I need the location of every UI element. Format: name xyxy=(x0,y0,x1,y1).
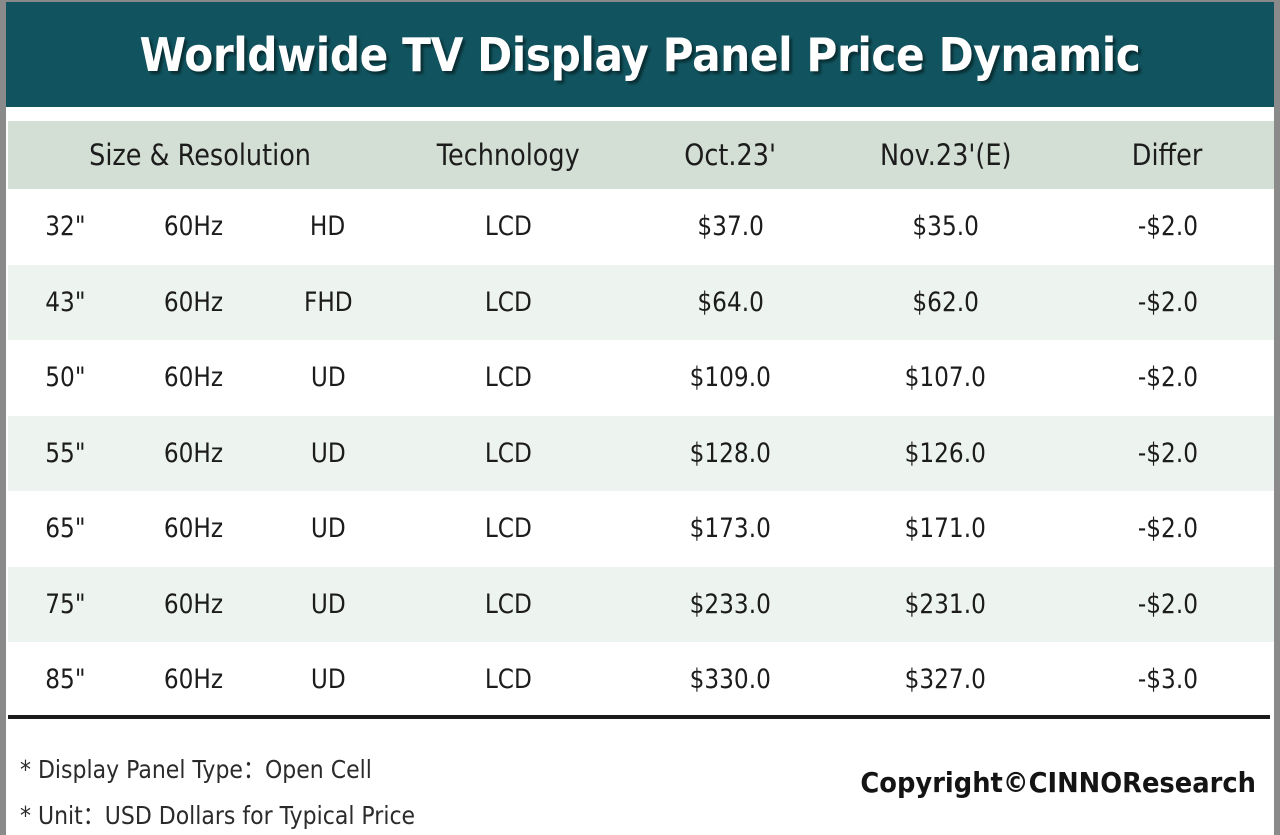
column-header-nov23e: Nov.23'(E) xyxy=(838,121,1053,189)
cell-differ: -$2.0 xyxy=(1053,416,1280,492)
cell-technology-label: LCD xyxy=(485,362,532,393)
cell-refresh: 60Hz xyxy=(123,642,263,718)
column-header-size-resolution: Size & Resolution xyxy=(8,121,393,189)
cell-refresh: 60Hz xyxy=(123,189,263,265)
column-header-oct23-label: Oct.23' xyxy=(685,138,777,172)
cell-nov23e-label: $126.0 xyxy=(905,438,986,469)
cell-nov23e: $62.0 xyxy=(838,265,1053,341)
table-header: Size & Resolution Technology Oct.23' Nov… xyxy=(8,121,1280,189)
footnotes: * Display Panel Type：Open Cell * Unit：US… xyxy=(20,747,469,835)
cell-technology: LCD xyxy=(393,265,623,341)
cell-refresh-label: 60Hz xyxy=(163,664,222,695)
cell-nov23e-label: $62.0 xyxy=(912,287,978,318)
footnote-panel-type-label: * Display Panel Type：Open Cell xyxy=(20,747,372,793)
cell-differ: -$3.0 xyxy=(1053,642,1280,718)
cell-resolution: UD xyxy=(263,567,393,643)
cell-oct23: $173.0 xyxy=(623,491,838,567)
cell-differ: -$2.0 xyxy=(1053,340,1280,416)
cell-nov23e: $126.0 xyxy=(838,416,1053,492)
cell-differ-label: -$2.0 xyxy=(1137,438,1197,469)
footer: * Display Panel Type：Open Cell * Unit：US… xyxy=(8,715,1270,835)
cell-technology-label: LCD xyxy=(485,513,532,544)
cell-refresh: 60Hz xyxy=(123,416,263,492)
cell-nov23e-label: $35.0 xyxy=(912,211,978,242)
cell-oct23-label: $64.0 xyxy=(697,287,763,318)
cell-technology: LCD xyxy=(393,491,623,567)
cell-oct23-label: $233.0 xyxy=(690,589,771,620)
cell-resolution: HD xyxy=(263,189,393,265)
cell-technology-label: LCD xyxy=(485,287,532,318)
cell-differ-label: -$2.0 xyxy=(1137,589,1197,620)
copyright-notice: Copyright©CINNOResearch xyxy=(826,766,1256,799)
cell-resolution-label: UD xyxy=(311,664,346,695)
cell-oct23-label: $109.0 xyxy=(690,362,771,393)
cell-differ: -$2.0 xyxy=(1053,265,1280,341)
cell-size: 55" xyxy=(8,416,123,492)
cell-size-label: 75" xyxy=(45,589,85,620)
table-row: 50" 60Hz UD LCD $109.0 $107.0 -$2.0 xyxy=(8,340,1280,416)
table-row: 65" 60Hz UD LCD $173.0 $171.0 -$2.0 xyxy=(8,491,1280,567)
price-table-infographic: Worldwide TV Display Panel Price Dynamic… xyxy=(0,0,1280,835)
cell-refresh-label: 60Hz xyxy=(163,438,222,469)
cell-oct23-label: $173.0 xyxy=(690,513,771,544)
table-header-row: Size & Resolution Technology Oct.23' Nov… xyxy=(8,121,1280,189)
table-row: 43" 60Hz FHD LCD $64.0 $62.0 -$2.0 xyxy=(8,265,1280,341)
cell-oct23-label: $128.0 xyxy=(690,438,771,469)
table-row: 32" 60Hz HD LCD $37.0 $35.0 -$2.0 xyxy=(8,189,1280,265)
cell-technology: LCD xyxy=(393,642,623,718)
cell-resolution: UD xyxy=(263,491,393,567)
cell-differ: -$2.0 xyxy=(1053,491,1280,567)
cell-technology: LCD xyxy=(393,340,623,416)
cell-technology: LCD xyxy=(393,567,623,643)
cell-oct23: $109.0 xyxy=(623,340,838,416)
cell-nov23e-label: $107.0 xyxy=(905,362,986,393)
cell-refresh-label: 60Hz xyxy=(163,589,222,620)
cell-resolution-label: HD xyxy=(310,211,345,242)
cell-nov23e: $231.0 xyxy=(838,567,1053,643)
cell-oct23: $330.0 xyxy=(623,642,838,718)
cell-size-label: 32" xyxy=(45,211,85,242)
cell-technology-label: LCD xyxy=(485,589,532,620)
cell-technology-label: LCD xyxy=(485,438,532,469)
footer-inner: * Display Panel Type：Open Cell * Unit：US… xyxy=(8,733,1270,835)
cell-differ-label: -$2.0 xyxy=(1137,362,1197,393)
page-title: Worldwide TV Display Panel Price Dynamic xyxy=(140,28,1141,82)
cell-technology: LCD xyxy=(393,189,623,265)
cell-differ-label: -$3.0 xyxy=(1137,664,1197,695)
cell-refresh-label: 60Hz xyxy=(163,287,222,318)
cell-differ-label: -$2.0 xyxy=(1137,287,1197,318)
cell-refresh-label: 60Hz xyxy=(163,362,222,393)
table-row: 55" 60Hz UD LCD $128.0 $126.0 -$2.0 xyxy=(8,416,1280,492)
table-row: 85" 60Hz UD LCD $330.0 $327.0 -$3.0 xyxy=(8,642,1280,718)
cell-resolution: UD xyxy=(263,340,393,416)
footnote-unit: * Unit：USD Dollars for Typical Price xyxy=(20,793,469,835)
cell-size: 65" xyxy=(8,491,123,567)
cell-technology-label: LCD xyxy=(485,211,532,242)
cell-size: 50" xyxy=(8,340,123,416)
cell-resolution-label: UD xyxy=(311,589,346,620)
cell-size-label: 55" xyxy=(45,438,85,469)
cell-nov23e-label: $327.0 xyxy=(905,664,986,695)
cell-refresh-label: 60Hz xyxy=(163,211,222,242)
column-header-differ: Differ xyxy=(1053,121,1280,189)
cell-size: 85" xyxy=(8,642,123,718)
cell-differ: -$2.0 xyxy=(1053,567,1280,643)
footnote-panel-type: * Display Panel Type：Open Cell xyxy=(20,747,469,793)
cell-size-label: 85" xyxy=(45,664,85,695)
column-header-technology-label: Technology xyxy=(437,138,580,172)
cell-size: 43" xyxy=(8,265,123,341)
cell-size-label: 65" xyxy=(45,513,85,544)
column-header-technology: Technology xyxy=(393,121,623,189)
cell-nov23e-label: $171.0 xyxy=(905,513,986,544)
cell-oct23: $233.0 xyxy=(623,567,838,643)
table-body: 32" 60Hz HD LCD $37.0 $35.0 -$2.0 43" 60… xyxy=(8,189,1280,718)
cell-size-label: 43" xyxy=(45,287,85,318)
cell-refresh: 60Hz xyxy=(123,567,263,643)
column-header-nov23e-label: Nov.23'(E) xyxy=(880,138,1011,172)
cell-resolution: UD xyxy=(263,416,393,492)
cell-differ-label: -$2.0 xyxy=(1137,211,1197,242)
cell-nov23e-label: $231.0 xyxy=(905,589,986,620)
cell-oct23: $64.0 xyxy=(623,265,838,341)
column-header-oct23: Oct.23' xyxy=(623,121,838,189)
cell-differ: -$2.0 xyxy=(1053,189,1280,265)
table-row: 75" 60Hz UD LCD $233.0 $231.0 -$2.0 xyxy=(8,567,1280,643)
cell-resolution-label: UD xyxy=(311,438,346,469)
cell-oct23: $37.0 xyxy=(623,189,838,265)
cell-resolution-label: UD xyxy=(311,513,346,544)
title-bar: Worldwide TV Display Panel Price Dynamic xyxy=(6,2,1274,107)
cell-refresh-label: 60Hz xyxy=(163,513,222,544)
cell-oct23: $128.0 xyxy=(623,416,838,492)
cell-resolution: UD xyxy=(263,642,393,718)
footnote-unit-label: * Unit：USD Dollars for Typical Price xyxy=(20,793,415,835)
cell-technology: LCD xyxy=(393,416,623,492)
cell-refresh: 60Hz xyxy=(123,340,263,416)
column-header-differ-label: Differ xyxy=(1132,138,1203,172)
cell-oct23-label: $37.0 xyxy=(697,211,763,242)
cell-resolution: FHD xyxy=(263,265,393,341)
cell-nov23e: $35.0 xyxy=(838,189,1053,265)
cell-differ-label: -$2.0 xyxy=(1137,513,1197,544)
cell-refresh: 60Hz xyxy=(123,265,263,341)
cell-size: 32" xyxy=(8,189,123,265)
copyright-label: Copyright©CINNOResearch xyxy=(860,766,1256,799)
cell-size: 75" xyxy=(8,567,123,643)
column-header-size-resolution-label: Size & Resolution xyxy=(90,138,312,172)
cell-nov23e: $107.0 xyxy=(838,340,1053,416)
cell-size-label: 50" xyxy=(45,362,85,393)
cell-nov23e: $327.0 xyxy=(838,642,1053,718)
cell-refresh: 60Hz xyxy=(123,491,263,567)
cell-nov23e: $171.0 xyxy=(838,491,1053,567)
cell-oct23-label: $330.0 xyxy=(690,664,771,695)
cell-resolution-label: FHD xyxy=(304,287,353,318)
cell-technology-label: LCD xyxy=(485,664,532,695)
cell-resolution-label: UD xyxy=(311,362,346,393)
price-table: Size & Resolution Technology Oct.23' Nov… xyxy=(8,121,1280,718)
